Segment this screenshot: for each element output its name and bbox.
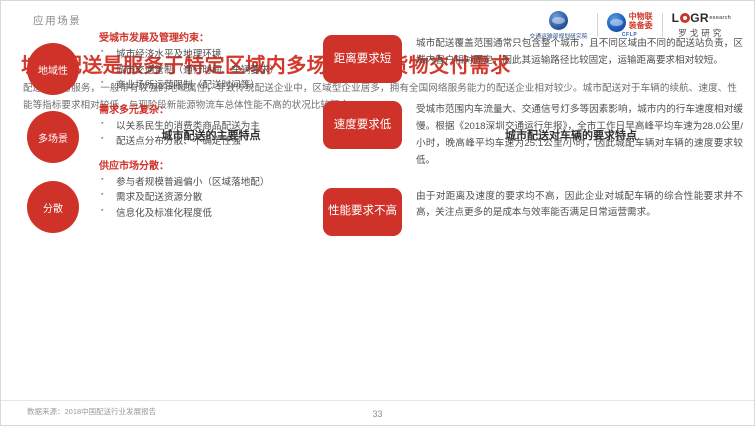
requirement-performance-text: 由于对距离及速度的要求均不高，因此企业对城配车辆的综合性能要求并不高，关注点更多…	[416, 188, 743, 223]
tag-performance: 性能要求不高	[323, 188, 402, 236]
left-group-1: 受城市发展及管理约束： 城市经济水平及地理环境 城市交通管制（通行时间、车辆要求…	[19, 29, 374, 94]
left-group-2: 需求多元复杂： 以关系民生的消费类商品配送为主 配送点分布分散、不确定性强	[19, 101, 374, 157]
requirement-performance: 性能要求不高 由于对距离及速度的要求均不高，因此企业对城配车辆的综合性能要求并不…	[323, 188, 743, 236]
requirement-distance: 距离要求短 城市配送覆盖范围通常只包含整个城市，且不同区域由不同的配送站负责，区…	[323, 35, 743, 83]
left-column: 地域性 多场景 分散 受城市发展及管理约束： 城市经济水平及地理环境 城市交通管…	[19, 29, 374, 228]
eyebrow-label: 应用场景	[33, 13, 81, 28]
tag-distance: 距离要求短	[323, 35, 402, 83]
requirement-speed: 速度要求低 受城市范围内车流量大、交通信号灯多等因素影响，城市内的行车速度相对缓…	[323, 101, 743, 170]
logo-logresearch-wordmark: LGResearch	[672, 11, 731, 25]
right-column: 距离要求短 城市配送覆盖范围通常只包含整个城市，且不同区域由不同的配送站负责，区…	[323, 29, 743, 250]
page-number: 33	[1, 409, 754, 419]
requirement-distance-text: 城市配送覆盖范围通常只包含整个城市，且不同区域由不同的配送站负责，区域内客户相对…	[416, 35, 743, 70]
footer-divider	[1, 400, 754, 401]
globe-icon	[549, 11, 568, 30]
target-icon	[680, 13, 690, 23]
requirement-speed-text: 受城市范围内车流量大、交通信号灯多等因素影响，城市内的行车速度相对缓慢。根据《2…	[416, 101, 743, 170]
slide: 应用场景 交通运输部规划研究院 中物联 装备委	[0, 0, 755, 426]
left-group-3: 供应市场分散： 参与者规模普遍偏小（区域落地配） 需求及配送资源分散 信息化及标…	[19, 157, 374, 222]
tag-speed: 速度要求低	[323, 101, 402, 149]
